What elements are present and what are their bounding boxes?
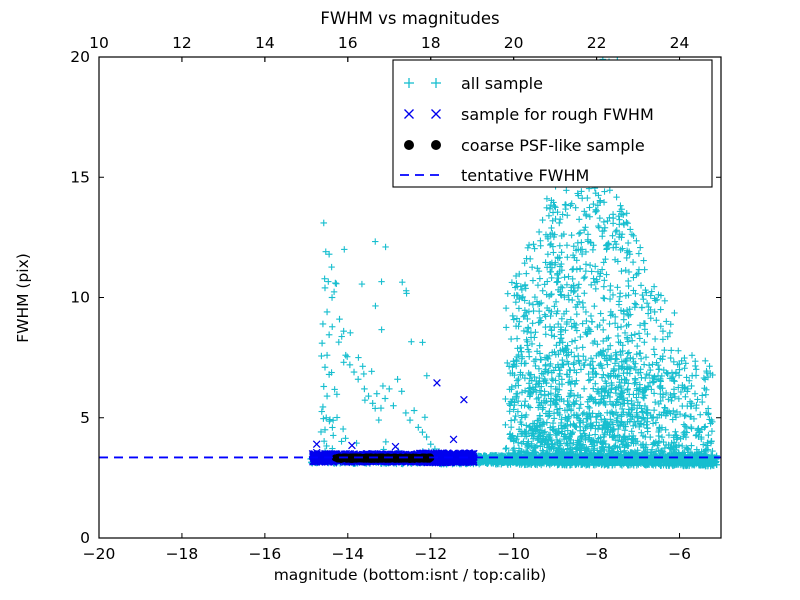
chart-title: FWHM vs magnitudes [320,9,499,28]
fwhm-scatter-plot: FWHM vs magnitudes −20−18−16−14−12−10−8−… [0,0,800,600]
figure-canvas: FWHM vs magnitudes −20−18−16−14−12−10−8−… [0,0,800,600]
